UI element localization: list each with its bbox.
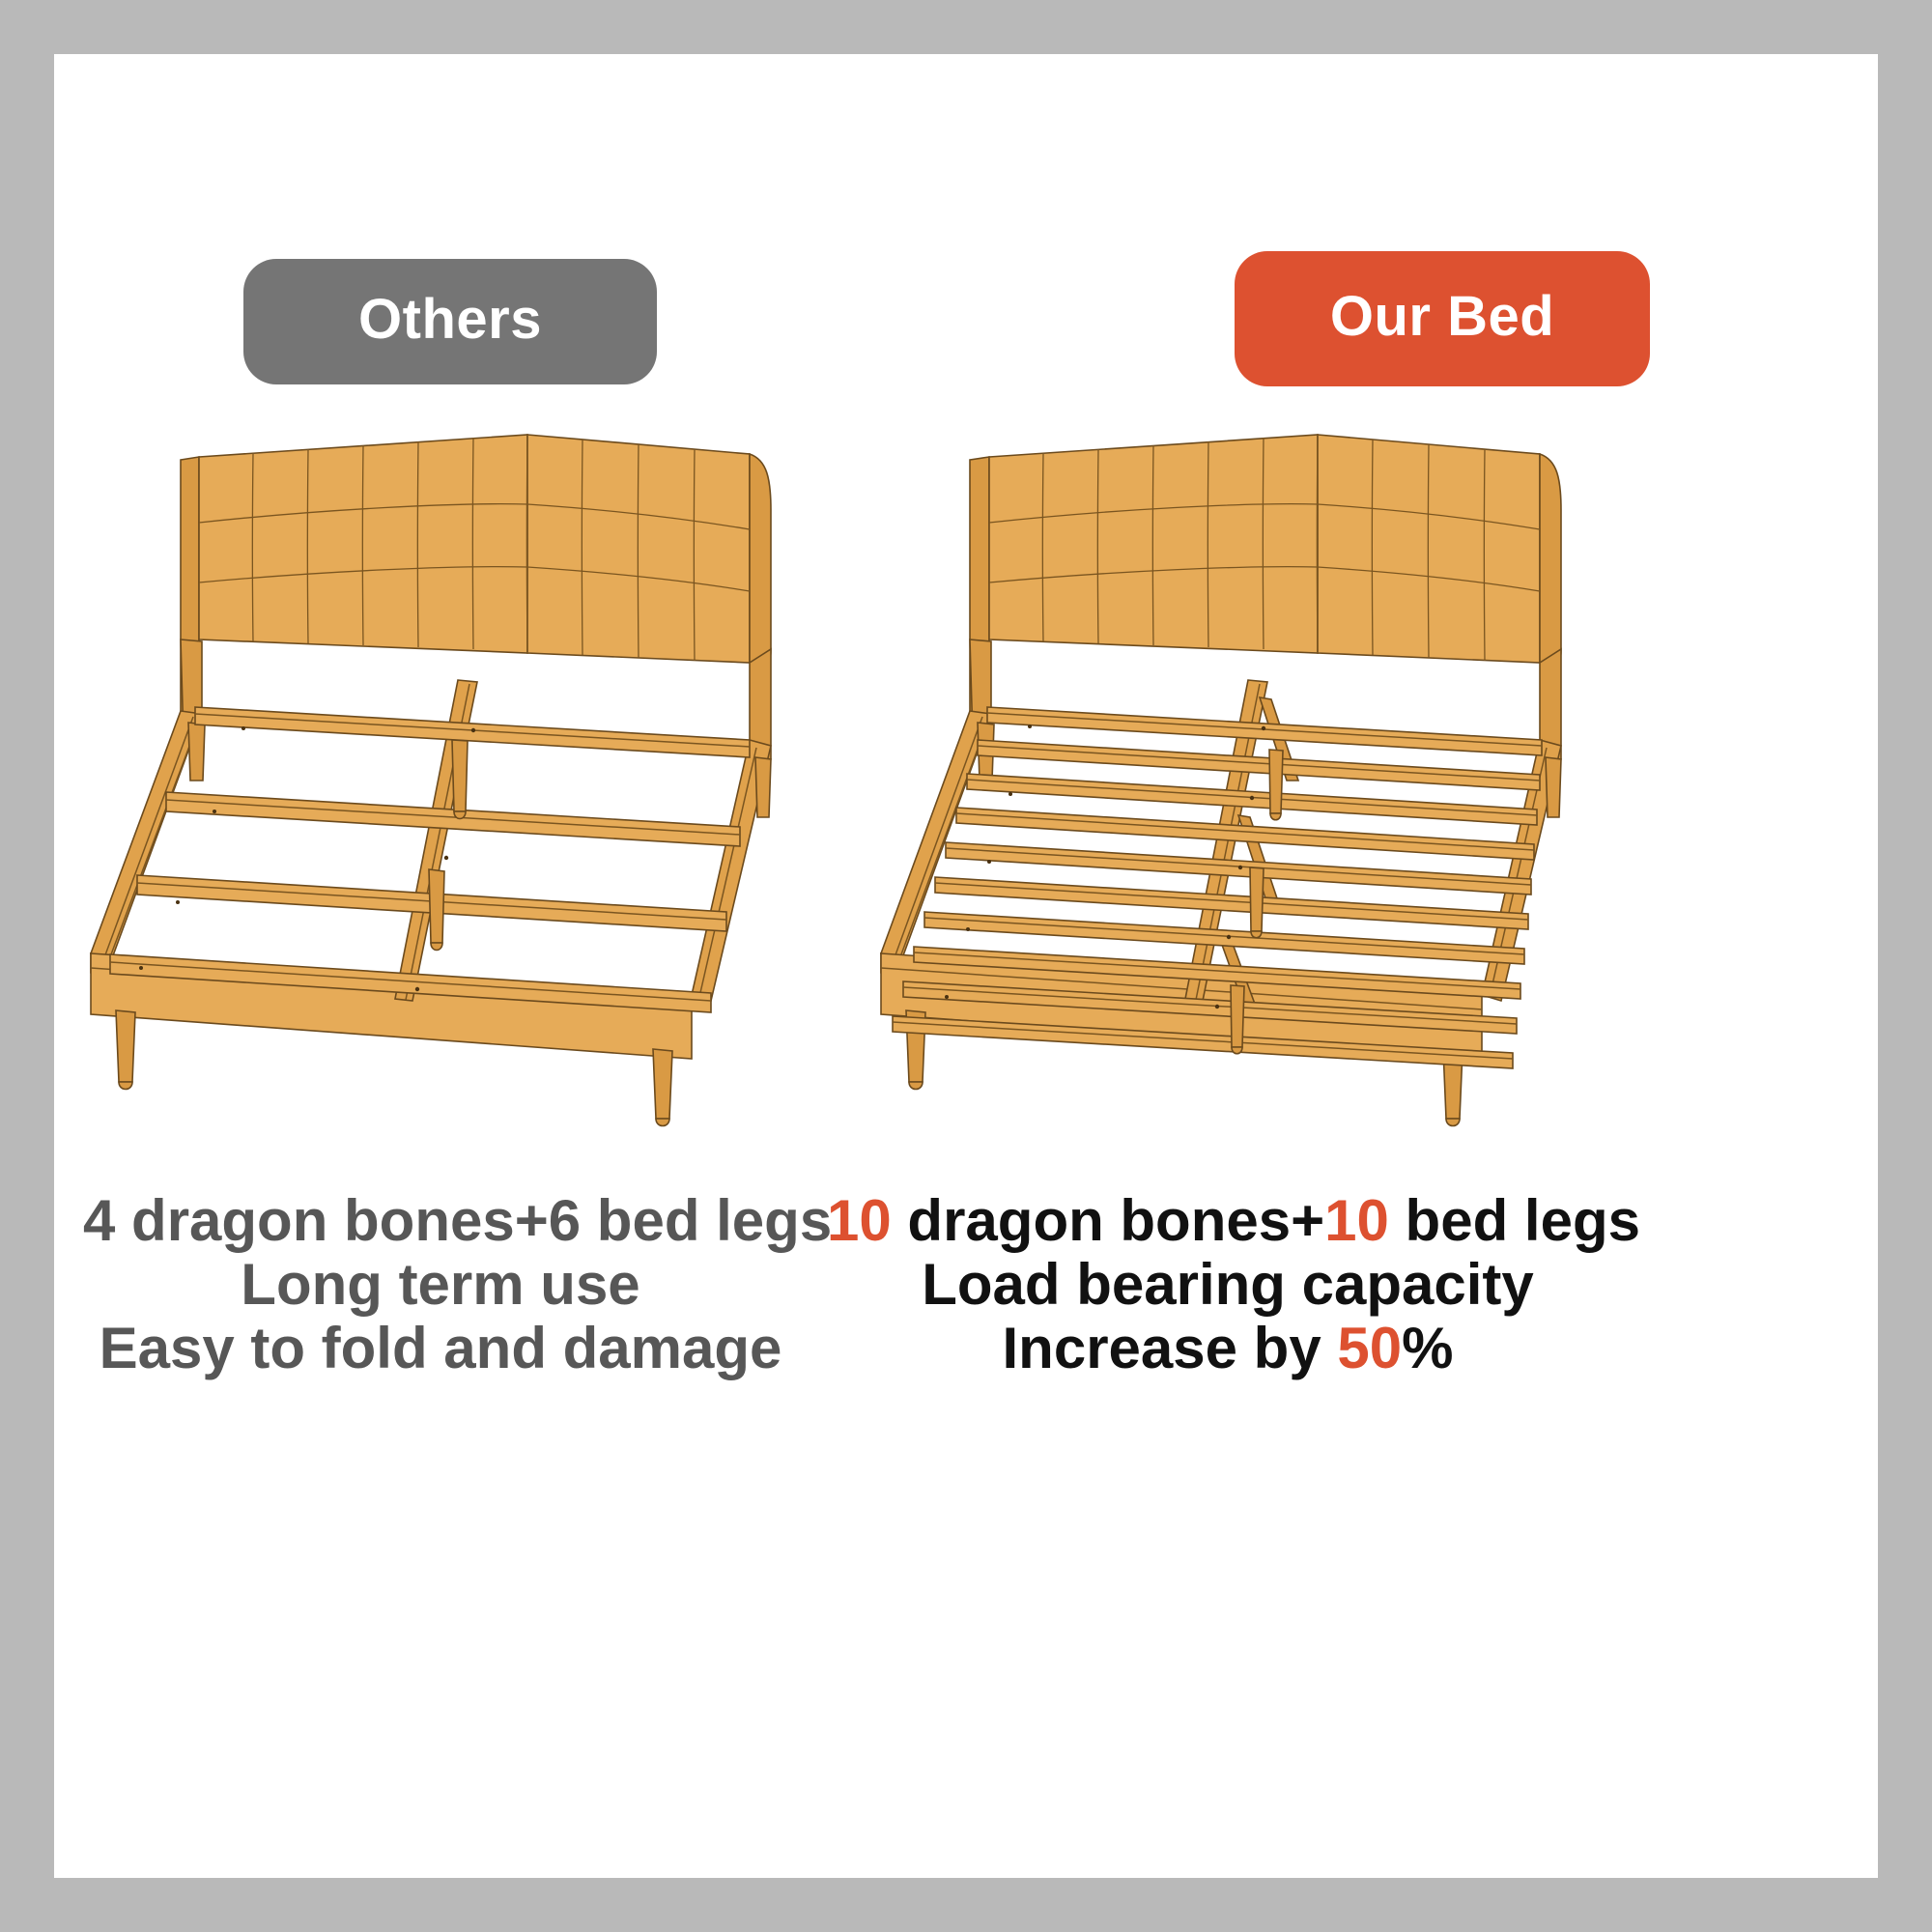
image-frame: Others Our Bed .f { fill:#e0a24c; stroke… bbox=[0, 0, 1932, 1932]
caption-our-bed-line-1: 10 dragon bones+10 bed legs bbox=[827, 1192, 1629, 1250]
bed-legs-label: bed legs bbox=[1389, 1188, 1640, 1253]
caption-our-bed-line-3: Increase by 50% bbox=[827, 1320, 1629, 1378]
increase-label: Increase by bbox=[1003, 1316, 1338, 1380]
caption-our-bed-line-2: Load bearing capacity bbox=[827, 1256, 1629, 1314]
caption-others: 4 dragon bones+6 bed legs Long term use … bbox=[83, 1192, 798, 1383]
comparison-canvas: Others Our Bed .f { fill:#e0a24c; stroke… bbox=[54, 54, 1878, 1878]
caption-others-line-1: 4 dragon bones+6 bed legs bbox=[83, 1192, 798, 1250]
caption-others-line-2: Long term use bbox=[83, 1256, 798, 1314]
increase-percent-value: 50 bbox=[1337, 1316, 1402, 1380]
dragon-bones-count: 10 bbox=[827, 1188, 892, 1253]
increase-percent-symbol: % bbox=[1402, 1316, 1453, 1380]
dragon-bones-label: dragon bones+ bbox=[892, 1188, 1324, 1253]
caption-our-bed: 10 dragon bones+10 bed legs Load bearing… bbox=[827, 1192, 1629, 1383]
badge-others: Others bbox=[243, 259, 657, 384]
badge-others-label: Others bbox=[358, 292, 542, 348]
bed-illustration-others: .f { fill:#e0a24c; stroke:#6b4a1d; strok… bbox=[73, 421, 875, 1059]
bed-frame-sparse-slats-svg: .f { fill:#e0a24c; stroke:#6b4a1d; strok… bbox=[73, 421, 875, 1059]
badge-our-bed-label: Our Bed bbox=[1330, 289, 1554, 345]
bed-legs-count: 10 bbox=[1324, 1188, 1389, 1253]
caption-others-line-3: Easy to fold and damage bbox=[83, 1320, 798, 1378]
bed-frame-dense-slats-svg: .g { fill:#e0a24c; stroke:#6b4a1d; strok… bbox=[866, 421, 1667, 1059]
bed-illustration-our-bed: .g { fill:#e0a24c; stroke:#6b4a1d; strok… bbox=[866, 421, 1667, 1059]
badge-our-bed: Our Bed bbox=[1235, 251, 1650, 386]
